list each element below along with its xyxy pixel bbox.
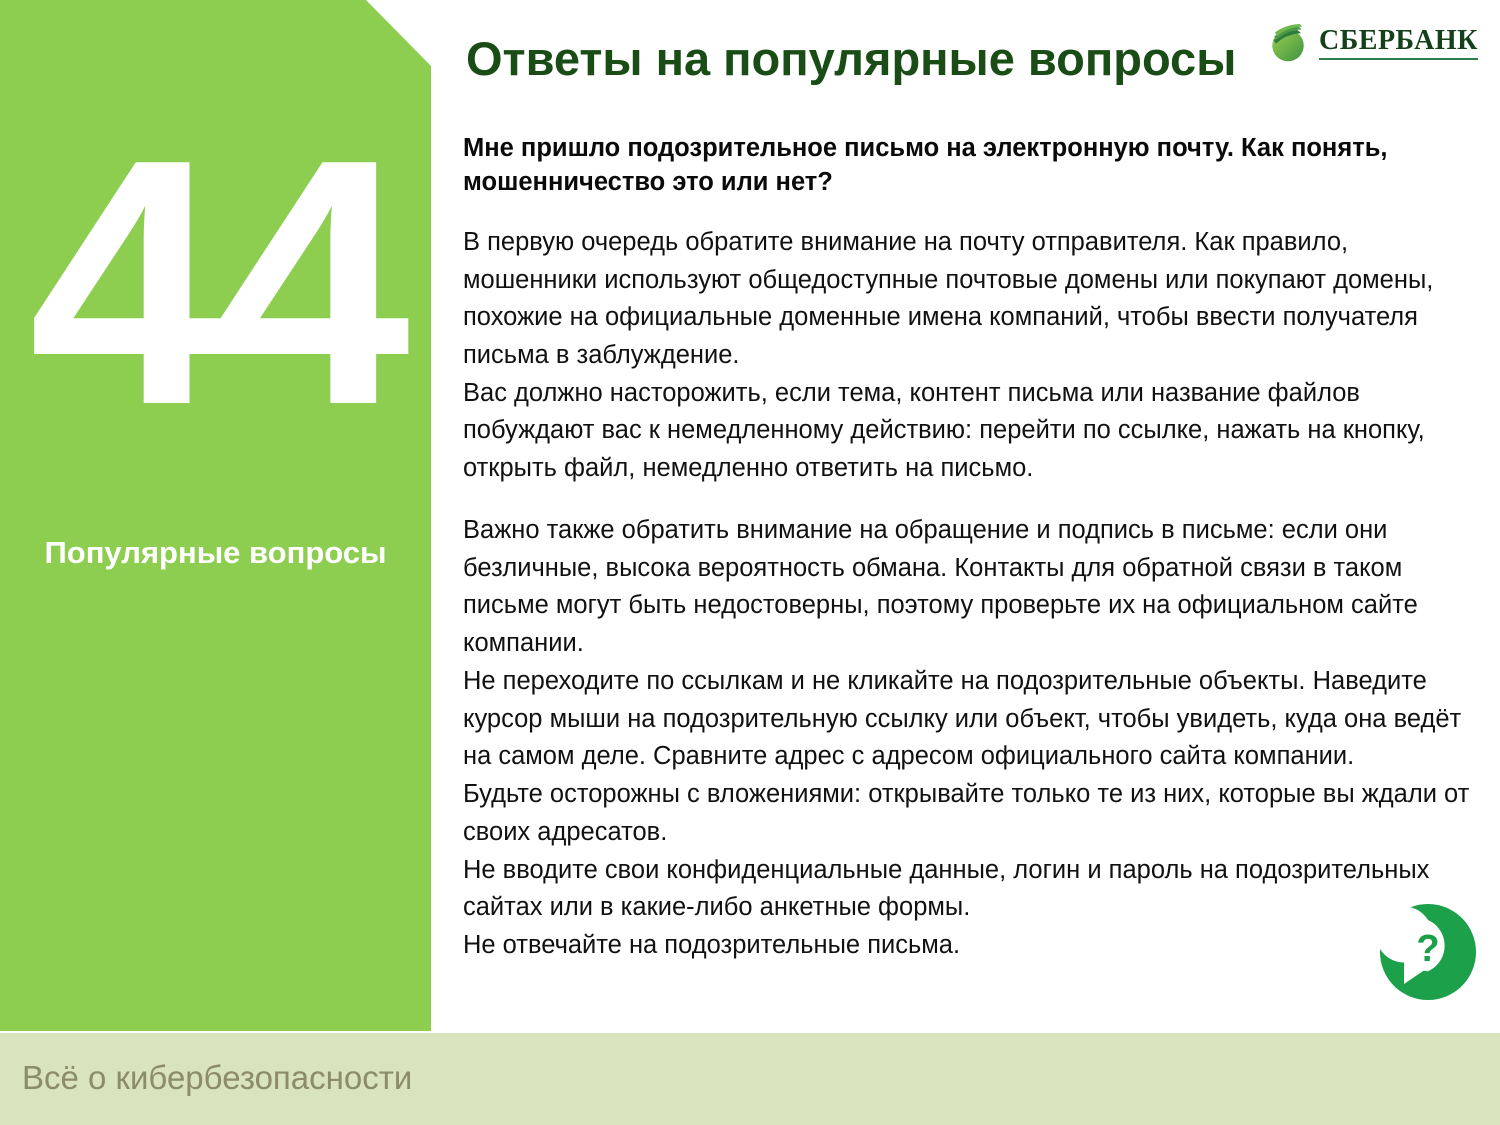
question-number: 44 bbox=[0, 108, 431, 458]
logo-wordmark-wrap: СБЕРБАНК bbox=[1319, 27, 1478, 60]
main-content: Мне пришло подозрительное письмо на элек… bbox=[463, 132, 1471, 965]
answer-paragraph-3: Важно также обратить внимание на обращен… bbox=[463, 512, 1471, 663]
sidebar-panel: 44 Популярные вопросы bbox=[0, 0, 431, 1031]
logo-underline bbox=[1319, 58, 1478, 60]
answer-paragraph-6: Не вводите свои конфиденциальные данные,… bbox=[463, 852, 1471, 927]
answer-paragraph-1: В первую очередь обратите внимание на по… bbox=[463, 224, 1471, 375]
page-title: Ответы на популярные вопросы bbox=[466, 33, 1306, 85]
footer-bar: Всё о кибербезопасности bbox=[0, 1033, 1500, 1125]
help-button[interactable]: ? bbox=[1376, 900, 1480, 1004]
help-glyph: ? bbox=[1416, 928, 1439, 970]
question-heading: Мне пришло подозрительное письмо на элек… bbox=[463, 132, 1471, 200]
answer-paragraph-4: Не переходите по ссылкам и не кликайте н… bbox=[463, 663, 1471, 776]
slide-root: 44 Популярные вопросы Ответы на популярн… bbox=[0, 0, 1500, 1125]
footer-label: Всё о кибербезопасности bbox=[22, 1059, 412, 1097]
answer-paragraph-5: Будьте осторожны с вложениями: открывайт… bbox=[463, 776, 1471, 851]
sberbank-logo: СБЕРБАНК bbox=[1267, 22, 1478, 64]
sberbank-emblem-icon bbox=[1267, 22, 1309, 64]
sidebar-caption: Популярные вопросы bbox=[0, 534, 431, 571]
logo-wordmark: СБЕРБАНК bbox=[1319, 27, 1478, 55]
answer-paragraph-2: Вас должно насторожить, если тема, конте… bbox=[463, 375, 1471, 488]
answer-paragraph-7: Не отвечайте на подозрительные письма. bbox=[463, 927, 1471, 965]
